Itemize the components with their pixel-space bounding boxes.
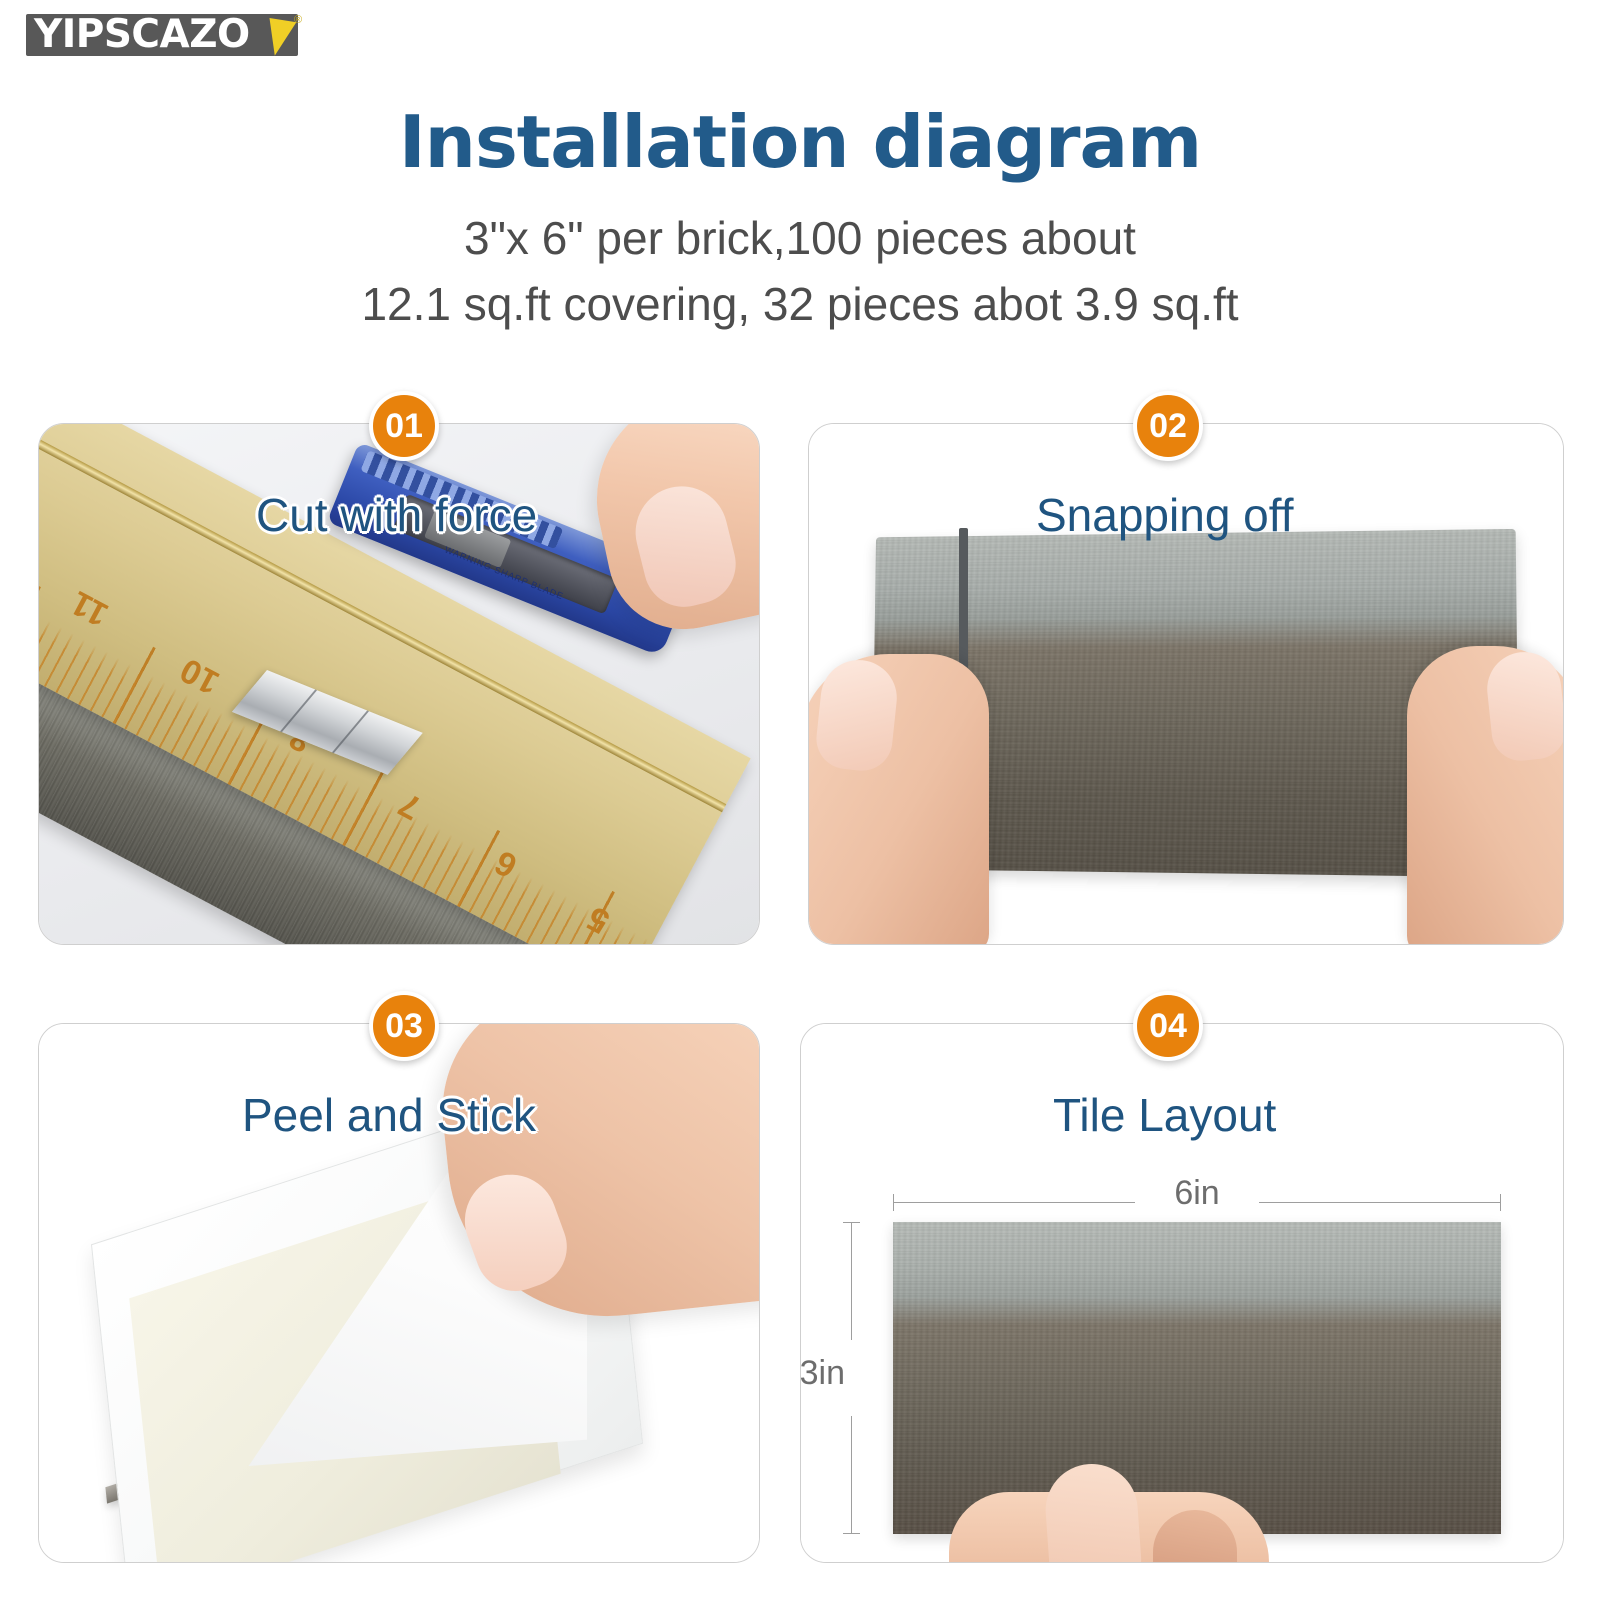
dimension-segment — [851, 1416, 852, 1534]
page-subtitle: 3"x 6" per brick,100 pieces about 12.1 s… — [0, 205, 1600, 337]
dimension-segment — [851, 1222, 852, 1340]
dimension-cap — [843, 1222, 860, 1223]
blade-segment-line — [332, 710, 369, 753]
tile-height-dimension-line — [851, 1222, 853, 1534]
tile-height-label: 3in — [800, 1354, 845, 1393]
step-label-02: Snapping off — [1036, 488, 1294, 542]
blade-segment-line — [280, 689, 317, 732]
tile-sample-photo — [893, 1222, 1501, 1534]
brand-logo: YIPSCAZO ® — [26, 10, 304, 62]
step-badge-03: 03 — [369, 991, 439, 1061]
dimension-segment — [1259, 1202, 1501, 1203]
dimension-cap — [1500, 1194, 1501, 1211]
subtitle-line-1: 3"x 6" per brick,100 pieces about — [0, 205, 1600, 271]
dimension-cap — [843, 1533, 860, 1534]
registered-trademark-icon: ® — [294, 14, 302, 26]
step-label-01: Cut with force — [256, 488, 537, 542]
step-badge-01: 01 — [369, 391, 439, 461]
step-label-04: Tile Layout — [1053, 1088, 1276, 1142]
step-badge-02: 02 — [1133, 391, 1203, 461]
installation-diagram-page: YIPSCAZO ® Installation diagram 3"x 6" p… — [0, 0, 1600, 1600]
right-thumb-photo — [1484, 648, 1564, 763]
step-label-03: Peel and Stick — [242, 1088, 536, 1142]
dimension-cap — [893, 1194, 894, 1211]
page-title: Installation diagram — [0, 100, 1600, 184]
dimension-segment — [893, 1202, 1135, 1203]
subtitle-line-2: 12.1 sq.ft covering, 32 pieces abot 3.9 … — [0, 271, 1600, 337]
logo-wordmark: YIPSCAZO — [34, 13, 300, 57]
step-badge-04: 04 — [1133, 991, 1203, 1061]
tile-width-dimension-line — [893, 1202, 1501, 1204]
tile-width-label: 6in — [893, 1174, 1501, 1213]
